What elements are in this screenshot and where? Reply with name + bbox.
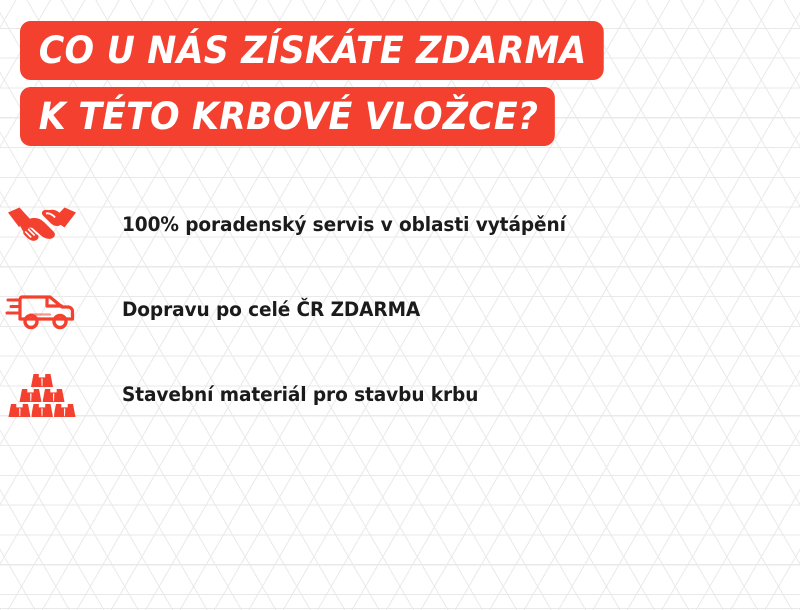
benefits-list: 100% poradenský servis v oblasti vytápěn… xyxy=(0,182,800,437)
benefit-row: 100% poradenský servis v oblasti vytápěn… xyxy=(0,182,800,267)
promo-banner: CO U NÁS ZÍSKÁTE ZDARMA K TÉTO KRBOVÉ VL… xyxy=(0,0,800,610)
handshake-icon xyxy=(0,199,84,251)
headline-line-2: K TÉTO KRBOVÉ VLOŽCE? xyxy=(20,87,555,146)
benefit-label: 100% poradenský servis v oblasti vytápěn… xyxy=(122,213,566,236)
headline-group: CO U NÁS ZÍSKÁTE ZDARMA K TÉTO KRBOVÉ VL… xyxy=(20,21,800,146)
bricks-icon xyxy=(0,369,84,421)
benefit-label: Dopravu po celé ČR ZDARMA xyxy=(122,298,420,321)
benefit-row: Stavební materiál pro stavbu krbu xyxy=(0,352,800,437)
delivery-van-icon xyxy=(0,284,84,336)
headline-line-1: CO U NÁS ZÍSKÁTE ZDARMA xyxy=(20,21,603,80)
benefit-label: Stavební materiál pro stavbu krbu xyxy=(122,383,478,406)
benefit-row: Dopravu po celé ČR ZDARMA xyxy=(0,267,800,352)
